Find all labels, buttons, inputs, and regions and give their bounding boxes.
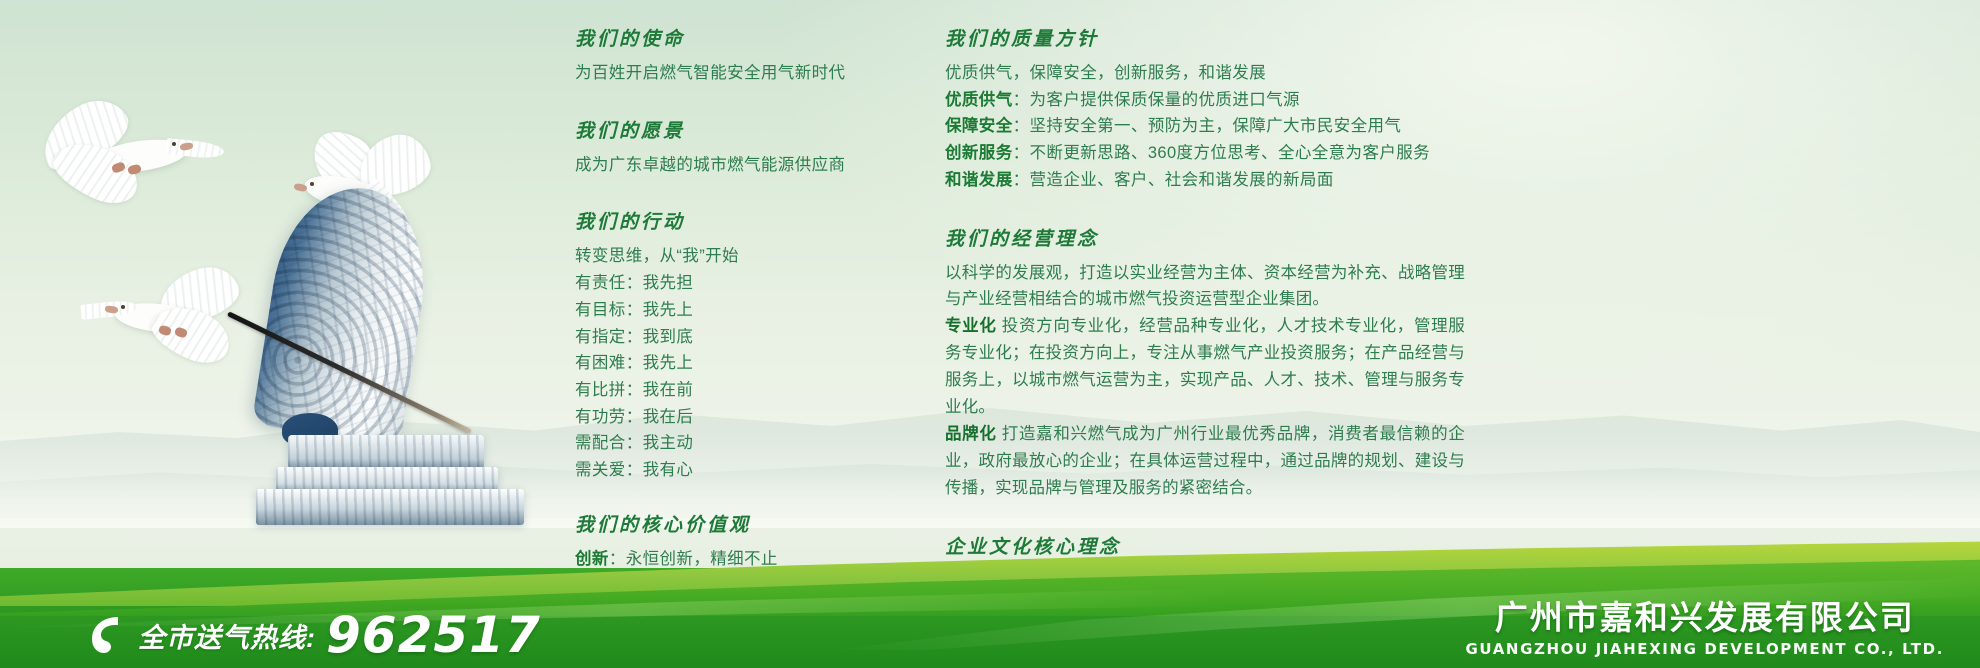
action-item-label: 有比拼: [575, 381, 626, 399]
quality-policy-text: 营造企业、客户、社会和谐发展的新局面: [1030, 171, 1334, 189]
stele-body: [251, 177, 438, 447]
action-item-label: 有功劳: [575, 408, 626, 426]
business-philosophy-item: 品牌化 打造嘉和兴燃气成为广州行业最优秀品牌，消费者最信赖的企业，政府最放心的企…: [945, 421, 1465, 502]
business-philosophy-label: 专业化: [945, 317, 997, 335]
action-item: 需配合：我主动: [575, 430, 905, 457]
company-name-cn: 广州市嘉和兴发展有限公司: [1465, 600, 1944, 637]
action-item: 有困难：我先上: [575, 350, 905, 377]
quality-policy-text: 为客户提供保质保量的优质进口气源: [1030, 91, 1300, 109]
action-item-label: 有困难: [575, 354, 626, 372]
company-name-en: GUANGZHOU JIAHEXING DEVELOPMENT CO., LTD…: [1465, 640, 1944, 658]
dove-flying-lower-icon: [95, 270, 275, 370]
action-item-value: 我主动: [643, 434, 694, 452]
action-block: 我们的行动 转变思维，从“我”开始 有责任：我先担 有目标：我先上 有指定：我到…: [575, 207, 905, 483]
action-item: 有功劳：我在后: [575, 404, 905, 431]
action-item: 有比拼：我在前: [575, 377, 905, 404]
action-item-label: 需配合: [575, 434, 626, 452]
business-philosophy-label: 品牌化: [945, 425, 997, 443]
quality-policy-block: 我们的质量方针 优质供气，保障安全，创新服务，和谐发展 优质供气：为客户提供保质…: [945, 24, 1465, 194]
action-item-label: 有目标: [575, 301, 626, 319]
quality-policy-summary: 优质供气，保障安全，创新服务，和谐发展: [945, 60, 1465, 87]
mission-line: 为百姓开启燃气智能安全用气新时代: [575, 60, 905, 87]
vision-line: 成为广东卓越的城市燃气能源供应商: [575, 152, 905, 179]
core-value-label: 创新: [575, 550, 609, 568]
action-item: 有目标：我先上: [575, 297, 905, 324]
business-philosophy-heading: 我们的经营理念: [945, 224, 1465, 251]
action-item-label: 需关爱: [575, 461, 626, 479]
action-item-value: 我先担: [643, 274, 694, 292]
quality-policy-item: 保障安全：坚持安全第一、预防为主，保障广大市民安全用气: [945, 113, 1465, 140]
core-value-text: 永恒创新，精细不止: [626, 550, 778, 568]
quality-policy-label: 和谐发展: [945, 171, 1013, 189]
action-item-value: 我有心: [643, 461, 694, 479]
quality-policy-item: 和谐发展：营造企业、客户、社会和谐发展的新局面: [945, 167, 1465, 194]
action-item: 需关爱：我有心: [575, 457, 905, 484]
vision-block: 我们的愿景 成为广东卓越的城市燃气能源供应商: [575, 116, 905, 179]
mission-heading: 我们的使命: [575, 24, 905, 51]
dove-flying-right-icon: [288, 130, 438, 250]
footer-green-band: 全市送气热线: 962517 广州市嘉和兴发展有限公司 GUANGZHOU JI…: [0, 568, 1980, 668]
hotline-group: 全市送气热线: 962517: [88, 610, 541, 660]
action-item: 有责任：我先担: [575, 270, 905, 297]
business-philosophy-intro: 以科学的发展观，打造以实业经营为主体、资本经营为补充、战略管理与产业经营相结合的…: [945, 260, 1465, 314]
action-item-label: 有指定: [575, 328, 626, 346]
vision-heading: 我们的愿景: [575, 116, 905, 143]
action-item-value: 我在前: [643, 381, 694, 399]
business-philosophy-text: 打造嘉和兴燃气成为广州行业最优秀品牌，消费者最信赖的企业，政府最放心的企业；在具…: [945, 425, 1465, 497]
phone-handset-icon: [88, 613, 128, 657]
dove-flying-left-icon: [30, 105, 210, 215]
quality-policy-text: 不断更新思路、360度方位思考、全心全意为客户服务: [1030, 144, 1431, 162]
left-text-column: 我们的使命 为百姓开启燃气智能安全用气新时代 我们的愿景 成为广东卓越的城市燃气…: [575, 0, 905, 626]
action-item: 有指定：我到底: [575, 324, 905, 351]
business-philosophy-block: 我们的经营理念 以科学的发展观，打造以实业经营为主体、资本经营为补充、战略管理与…: [945, 224, 1465, 502]
company-name-group: 广州市嘉和兴发展有限公司 GUANGZHOU JIAHEXING DEVELOP…: [1465, 600, 1944, 658]
mission-block: 我们的使命 为百姓开启燃气智能安全用气新时代: [575, 24, 905, 87]
action-item-value: 我在后: [643, 408, 694, 426]
quality-policy-label: 优质供气: [945, 91, 1013, 109]
quality-policy-item: 创新服务：不断更新思路、360度方位思考、全心全意为客户服务: [945, 140, 1465, 167]
core-values-heading: 我们的核心价值观: [575, 510, 905, 537]
action-item-value: 我先上: [643, 301, 694, 319]
action-intro: 转变思维，从“我”开始: [575, 243, 905, 270]
action-item-value: 我先上: [643, 354, 694, 372]
quality-policy-label: 创新服务: [945, 144, 1013, 162]
business-philosophy-item: 专业化 投资方向专业化，经营品种专业化，人才技术专业化，管理服务专业化；在投资方…: [945, 313, 1465, 421]
action-item-value: 我到底: [643, 328, 694, 346]
quality-policy-heading: 我们的质量方针: [945, 24, 1465, 51]
hotline-number: 962517: [326, 610, 541, 660]
quality-policy-text: 坚持安全第一、预防为主，保障广大市民安全用气: [1030, 117, 1402, 135]
action-item-label: 有责任: [575, 274, 626, 292]
company-culture-poster: 我们的使命 为百姓开启燃气智能安全用气新时代 我们的愿景 成为广东卓越的城市燃气…: [0, 0, 1980, 668]
right-text-column: 我们的质量方针 优质供气，保障安全，创新服务，和谐发展 优质供气：为客户提供保质…: [945, 0, 1465, 594]
quality-policy-label: 保障安全: [945, 117, 1013, 135]
hotline-label: 全市送气热线:: [138, 616, 316, 655]
quality-policy-item: 优质供气：为客户提供保质保量的优质进口气源: [945, 87, 1465, 114]
action-heading: 我们的行动: [575, 207, 905, 234]
business-philosophy-text: 投资方向专业化，经营品种专业化，人才技术专业化，管理服务专业化；在投资方向上，专…: [945, 317, 1465, 416]
